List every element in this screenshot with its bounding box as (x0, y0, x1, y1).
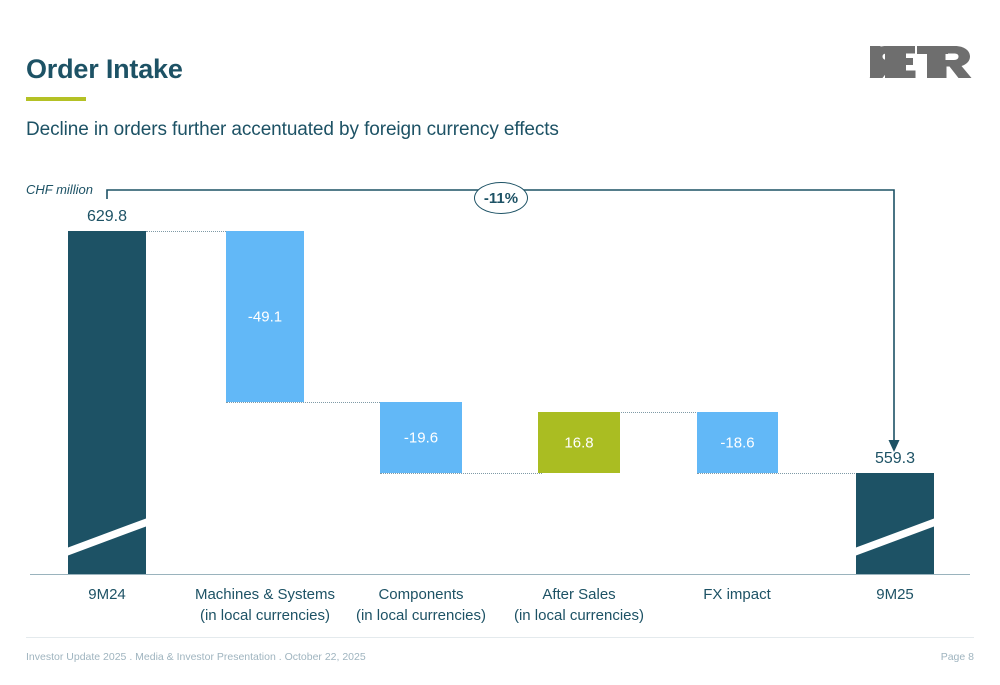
category-name-9m24: 9M24 (88, 586, 126, 603)
connector-5 (697, 473, 857, 474)
category-label-9m24: 9M24 (47, 584, 167, 605)
connector-3 (380, 473, 542, 474)
bar-fx-impact[interactable]: -18.6 (697, 412, 778, 473)
delta-badge: -11% (474, 182, 528, 214)
y-axis-unit-label: CHF million (26, 182, 93, 197)
category-sub-after-sales: (in local currencies) (479, 605, 679, 626)
bar-label-9m24: 629.8 (68, 208, 146, 226)
bar-after-sales[interactable]: 16.8 (538, 412, 620, 473)
footer-page-number: Page 8 (941, 651, 974, 663)
bar-value-fx-impact: -18.6 (697, 434, 778, 451)
bar-value-components: -19.6 (380, 429, 462, 446)
connector-1 (146, 231, 230, 232)
category-name-machines-systems: Machines & Systems (195, 586, 335, 603)
category-label-after-sales: After Sales (in local currencies) (479, 584, 679, 626)
connector-2 (226, 402, 384, 403)
slide: Order Intake Decline in orders further a… (0, 0, 1000, 685)
category-name-fx-impact: FX impact (703, 586, 771, 603)
bar-components[interactable]: -19.6 (380, 402, 462, 473)
bar-value-machines-systems: -49.1 (226, 308, 304, 325)
bar-9m25[interactable] (856, 473, 934, 574)
axis-break-icon (68, 231, 146, 574)
bar-value-after-sales: 16.8 (538, 434, 620, 451)
category-name-9m25: 9M25 (876, 586, 914, 603)
axis-break-icon-2 (856, 473, 934, 574)
footer-left-text: Investor Update 2025 . Media & Investor … (26, 651, 366, 663)
footer-divider (26, 637, 974, 638)
x-axis-line (30, 574, 970, 575)
bar-machines-systems[interactable]: -49.1 (226, 231, 304, 402)
bar-9m24[interactable] (68, 231, 146, 574)
category-label-9m25: 9M25 (835, 584, 955, 605)
category-label-fx-impact: FX impact (677, 584, 797, 605)
category-name-after-sales: After Sales (542, 586, 615, 603)
waterfall-chart: CHF million -11% 629.8 -49.1 -19.6 (0, 0, 1000, 685)
category-name-components: Components (378, 586, 463, 603)
delta-connector (0, 0, 1000, 685)
bar-label-9m25: 559.3 (856, 450, 934, 468)
